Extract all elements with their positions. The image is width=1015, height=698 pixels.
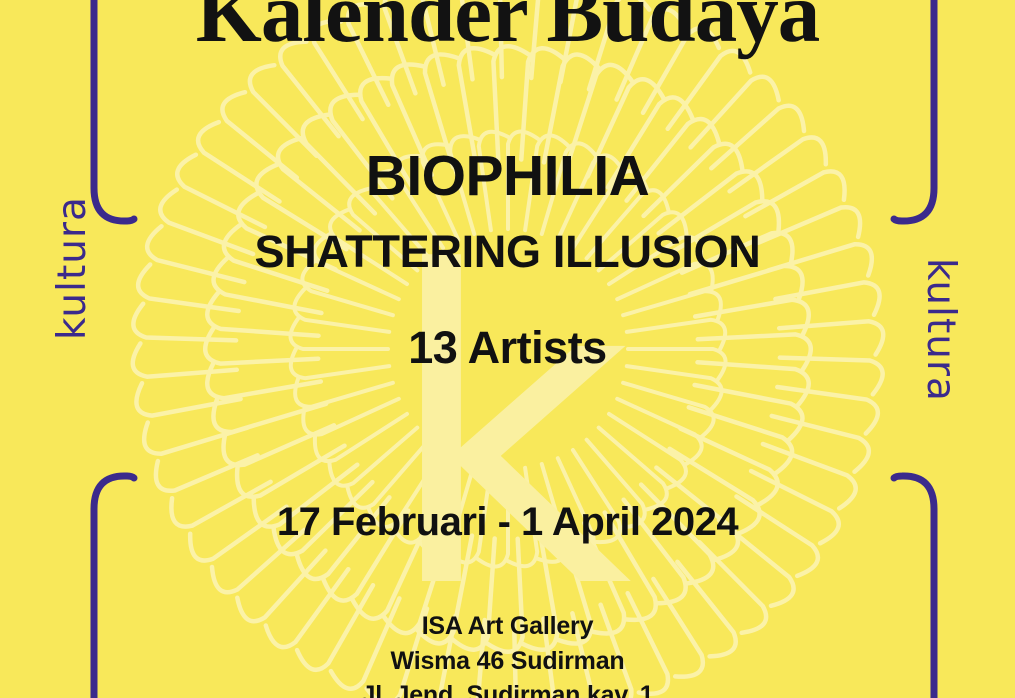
poster-canvas: k kultura kultura Kalender Budaya BIOPHI… [0, 0, 1015, 698]
venue-line-2: Wisma 46 Sudirman [0, 644, 1015, 679]
exhibition-name: BIOPHILIA [0, 148, 1015, 205]
poster-content: Kalender Budaya BIOPHILIA SHATTERING ILL… [0, 0, 1015, 698]
artist-count: 13 Artists [0, 325, 1015, 370]
venue-block: ISA Art Gallery Wisma 46 Sudirman Jl. Je… [0, 609, 1015, 698]
venue-line-1: ISA Art Gallery [0, 609, 1015, 644]
exhibition-date-range: 17 Februari - 1 April 2024 [0, 502, 1015, 542]
venue-line-3: Jl. Jend. Sudirman kav. 1 [0, 678, 1015, 698]
poster-title: Kalender Budaya [0, 0, 1015, 56]
exhibition-subtitle: SHATTERING ILLUSION [0, 229, 1015, 274]
